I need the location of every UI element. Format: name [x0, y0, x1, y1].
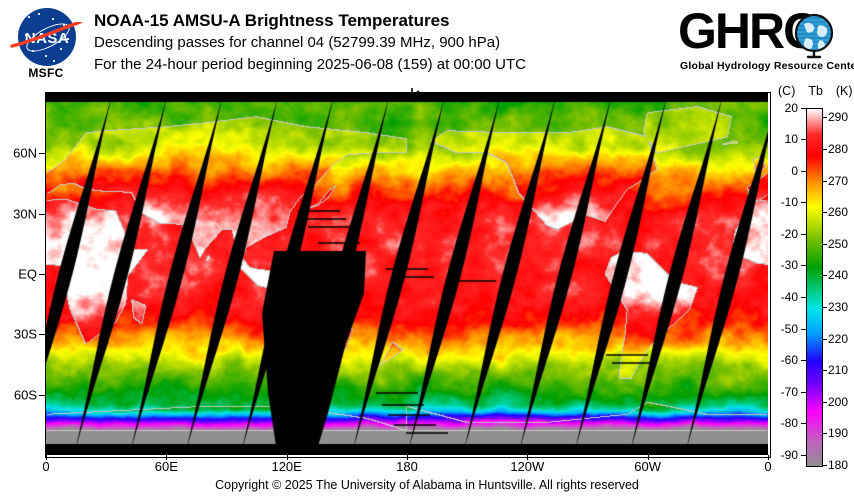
y-axis-tick	[39, 334, 45, 335]
nasa-swoosh-icon	[10, 22, 82, 48]
orbit-node-marker-icon	[404, 88, 434, 102]
colorbar-tick-kelvin	[822, 149, 827, 150]
y-axis-label: 30N	[0, 206, 37, 221]
colorbar-label-kelvin: 280	[828, 142, 854, 156]
ghrc-logo: GHRC Global	[678, 4, 846, 78]
colorbar-label-kelvin: 180	[828, 458, 854, 472]
colorbar-unit-kelvin: (K)	[836, 84, 853, 98]
colorbar-tick-celsius	[801, 297, 806, 298]
colorbar-label-kelvin: 200	[828, 395, 854, 409]
subtitle-period: For the 24-hour period beginning 2025-06…	[94, 54, 526, 76]
colorbar-label-kelvin: 250	[828, 237, 854, 251]
colorbar-label-celsius: -60	[770, 353, 798, 367]
y-axis-label: 60N	[0, 146, 37, 161]
title-block: NOAA-15 AMSU-A Brightness Temperatures D…	[94, 10, 526, 76]
colorbar-label-kelvin: 190	[828, 426, 854, 440]
x-axis-label: 0	[42, 459, 49, 474]
brightness-temperature-map[interactable]	[46, 93, 768, 455]
colorbar-tick-celsius	[801, 234, 806, 235]
colorbar-label-kelvin: 220	[828, 332, 854, 346]
colorbar-tick-kelvin	[822, 244, 827, 245]
colorbar-label-kelvin: 210	[828, 363, 854, 377]
y-axis-tick	[39, 153, 45, 154]
colorbar-label-kelvin: 260	[828, 205, 854, 219]
colorbar-header: (C) Tb (K)	[778, 84, 853, 98]
subtitle-channel: Descending passes for channel 04 (52799.…	[94, 32, 526, 54]
page-title: NOAA-15 AMSU-A Brightness Temperatures	[94, 10, 526, 32]
colorbar-label-celsius: -40	[770, 290, 798, 304]
colorbar-tick-celsius	[801, 455, 806, 456]
colorbar-gradient	[807, 109, 822, 466]
colorbar-label-kelvin: 290	[828, 110, 854, 124]
colorbar-tick-celsius	[801, 329, 806, 330]
copyright-notice: Copyright © 2025 The University of Alaba…	[0, 478, 854, 492]
colorbar-tick-kelvin	[822, 465, 827, 466]
colorbar-label-celsius: -10	[770, 195, 798, 209]
y-axis-label: 60S	[0, 387, 37, 402]
globe-icon	[792, 12, 840, 60]
colorbar-tick-celsius	[801, 139, 806, 140]
colorbar-tick-celsius	[801, 171, 806, 172]
colorbar-tick-kelvin	[822, 181, 827, 182]
colorbar-tick-celsius	[801, 423, 806, 424]
colorbar-tick-kelvin	[822, 433, 827, 434]
y-axis-label: 30S	[0, 327, 37, 342]
nasa-center-label: MSFC	[8, 66, 84, 80]
colorbar-unit-celsius: (C)	[778, 84, 795, 98]
colorbar[interactable]	[806, 108, 823, 467]
colorbar-label-kelvin: 240	[828, 268, 854, 282]
colorbar-tick-kelvin	[822, 212, 827, 213]
colorbar-label-celsius: 10	[770, 132, 798, 146]
map-raster	[46, 93, 768, 455]
colorbar-tick-celsius	[801, 265, 806, 266]
colorbar-tick-kelvin	[822, 275, 827, 276]
ghrc-subtitle-text: Global Hydrology Resource Center	[680, 60, 854, 72]
nasa-logo: NASA MSFC	[8, 6, 84, 82]
colorbar-label-kelvin: 270	[828, 174, 854, 188]
colorbar-tick-kelvin	[822, 307, 827, 308]
colorbar-tick-celsius	[801, 392, 806, 393]
colorbar-tick-kelvin	[822, 339, 827, 340]
colorbar-label-celsius: -70	[770, 385, 798, 399]
colorbar-tick-celsius	[801, 202, 806, 203]
colorbar-label-celsius: 0	[770, 164, 798, 178]
ghrc-subtitle: Global Hydrology Resource Center	[680, 60, 854, 72]
x-axis-label: 120W	[510, 459, 544, 474]
colorbar-label-celsius: -80	[770, 416, 798, 430]
colorbar-tick-celsius	[801, 360, 806, 361]
y-axis-tick	[39, 395, 45, 396]
colorbar-variable-label: Tb	[808, 84, 823, 98]
colorbar-label-celsius: -90	[770, 448, 798, 462]
colorbar-tick-kelvin	[822, 117, 827, 118]
colorbar-tick-celsius	[801, 108, 806, 109]
colorbar-label-celsius: -50	[770, 322, 798, 336]
x-axis-label: 60W	[634, 459, 661, 474]
colorbar-label-kelvin: 230	[828, 300, 854, 314]
y-axis-tick	[39, 214, 45, 215]
colorbar-label-celsius: -30	[770, 258, 798, 272]
colorbar-label-celsius: 20	[770, 101, 798, 115]
colorbar-tick-kelvin	[822, 370, 827, 371]
y-axis-label: EQ	[0, 267, 37, 282]
x-axis-label: 180	[396, 459, 418, 474]
y-axis-tick	[39, 274, 45, 275]
x-axis-label: 60E	[155, 459, 178, 474]
x-axis-label: 120E	[271, 459, 301, 474]
colorbar-label-celsius: -20	[770, 227, 798, 241]
colorbar-tick-kelvin	[822, 402, 827, 403]
